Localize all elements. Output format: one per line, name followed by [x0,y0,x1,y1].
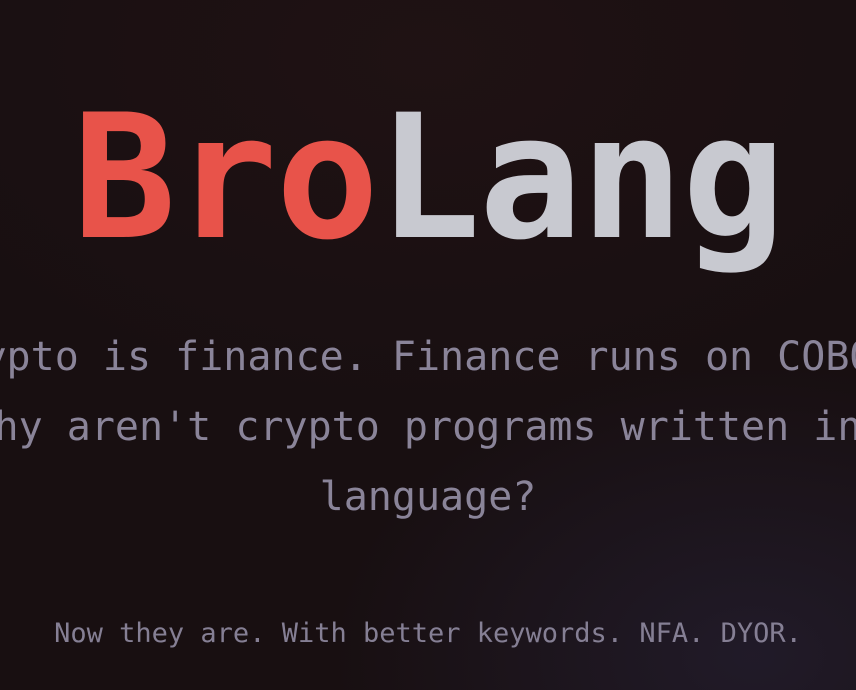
hero-section: BroLang Crypto is finance. Finance runs … [0,0,856,690]
title-word-bro: Bro [73,77,378,278]
page-title: BroLang [0,92,856,264]
subtitle-line-1: Crypto is finance. Finance runs on COBOL… [0,322,856,392]
title-word-lang: Lang [377,77,783,278]
subtitle-line-2: So why aren't crypto programs written in… [0,392,856,462]
tagline: Now they are. With better keywords. NFA.… [0,616,856,652]
subtitle-line-3: language? [0,462,856,532]
subtitle: Crypto is finance. Finance runs on COBOL… [0,322,856,532]
